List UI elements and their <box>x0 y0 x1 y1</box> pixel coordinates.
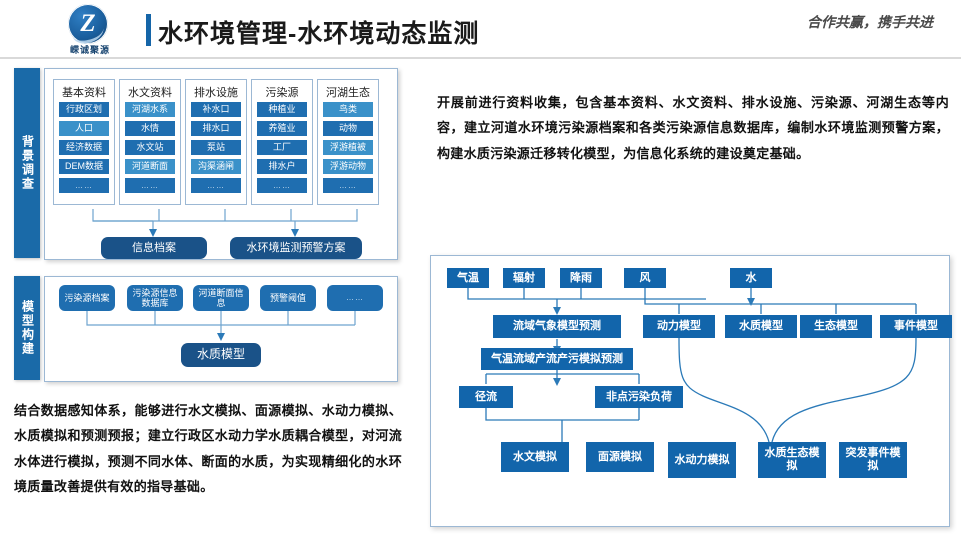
model-input-pollution-archive[interactable]: 污染源档案 <box>59 285 115 311</box>
flow-driver-wind[interactable]: 风 <box>624 268 666 288</box>
flow-runoff-pollution-model[interactable]: 气温流域产流产污模拟预测 <box>481 348 633 370</box>
data-chip[interactable]: 排水口 <box>191 121 241 136</box>
header-divider <box>0 57 961 59</box>
sidebar-item-label: 背景调查 <box>20 135 35 191</box>
flow-output-nonpoint-load[interactable]: 非点污染负荷 <box>595 386 683 408</box>
data-chip[interactable]: 人口 <box>59 121 109 136</box>
model-input-label: …… <box>346 293 364 302</box>
output-monitoring-warning-plan[interactable]: 水环境监测预警方案 <box>230 237 362 259</box>
data-chip[interactable]: 动物 <box>323 121 373 136</box>
model-output-label: 水质模型 <box>197 348 245 362</box>
flow-label: 气温 <box>457 272 479 285</box>
column-title: 污染源 <box>252 84 312 100</box>
data-chip[interactable]: 种植业 <box>257 102 307 117</box>
data-chip[interactable]: 河道断面 <box>125 159 175 174</box>
data-chip[interactable]: 水文站 <box>125 140 175 155</box>
flow-driver-rainfall[interactable]: 降雨 <box>560 268 602 288</box>
flow-sim-water-quality-ecology[interactable]: 水质生态模拟 <box>758 442 826 478</box>
flow-label: 辐射 <box>513 272 535 285</box>
flow-label: 面源模拟 <box>598 451 642 464</box>
flow-label: 径流 <box>475 391 497 404</box>
model-input-more[interactable]: …… <box>327 285 383 311</box>
data-column-pollution-source: 污染源 种植业 养殖业 工厂 排水户 …… <box>251 79 313 205</box>
logo-wordmark: 嵘诚聚源 <box>52 43 128 56</box>
page-title: 水环境管理-水环境动态监测 <box>158 14 479 50</box>
flow-model-dynamics[interactable]: 动力模型 <box>643 315 715 338</box>
flow-output-runoff[interactable]: 径流 <box>459 386 513 408</box>
flow-label: 突发事件模拟 <box>842 447 904 472</box>
column-title: 排水设施 <box>186 84 246 100</box>
data-chip[interactable]: 补水口 <box>191 102 241 117</box>
flow-model-ecology[interactable]: 生态模型 <box>800 315 872 338</box>
data-chip-more[interactable]: …… <box>257 178 307 193</box>
data-chip[interactable]: 行政区划 <box>59 102 109 117</box>
column-title: 河湖生态 <box>318 84 378 100</box>
data-chip-more[interactable]: …… <box>191 178 241 193</box>
output-label: 水环境监测预警方案 <box>247 242 346 255</box>
sidebar-item-label: 模型构建 <box>20 300 35 356</box>
data-chip[interactable]: 水情 <box>125 121 175 136</box>
data-chip[interactable]: 排水户 <box>257 159 307 174</box>
flow-label: 水动力模拟 <box>675 454 730 467</box>
background-investigation-panel: 基本资料 行政区划 人口 经济数据 DEM数据 …… 水文资料 河湖水系 水情 … <box>44 68 398 260</box>
model-flow-diagram: 气温 辐射 降雨 风 水 流域气象模型预测 动力模型 水质模型 生态模型 事件模… <box>430 255 950 527</box>
model-input-label: 污染源档案 <box>64 293 109 303</box>
flow-label: 流域气象模型预测 <box>513 320 601 333</box>
data-chip[interactable]: 工厂 <box>257 140 307 155</box>
flow-label: 风 <box>640 272 651 285</box>
output-information-archive[interactable]: 信息档案 <box>101 237 207 259</box>
flow-label: 生态模型 <box>814 320 858 333</box>
data-chip[interactable]: 养殖业 <box>257 121 307 136</box>
data-chip[interactable]: 浮游动物 <box>323 159 373 174</box>
flow-sim-hydrodynamics[interactable]: 水动力模拟 <box>668 442 736 478</box>
flow-model-event[interactable]: 事件模型 <box>880 315 952 338</box>
data-column-hydrology: 水文资料 河湖水系 水情 水文站 河道断面 …… <box>119 79 181 205</box>
flow-driver-water[interactable]: 水 <box>730 268 772 288</box>
data-chip[interactable]: 浮游植被 <box>323 140 373 155</box>
flow-basin-weather-model[interactable]: 流域气象模型预测 <box>493 315 621 338</box>
data-chip-more[interactable]: …… <box>125 178 175 193</box>
column-title: 水文资料 <box>120 84 180 100</box>
flow-sim-nonpoint-source[interactable]: 面源模拟 <box>586 442 654 472</box>
data-column-basic: 基本资料 行政区划 人口 经济数据 DEM数据 …… <box>53 79 115 205</box>
slide-header: Z 嵘诚聚源 水环境管理-水环境动态监测 合作共赢，携手共进 <box>0 0 961 58</box>
data-chip-more[interactable]: …… <box>323 178 373 193</box>
data-chip[interactable]: 经济数据 <box>59 140 109 155</box>
logo-disc-icon: Z <box>68 4 108 44</box>
description-bottom: 结合数据感知体系，能够进行水文模拟、面源模拟、水动力模拟、水质模拟和预测预报；建… <box>14 398 402 499</box>
flow-label: 气温流域产流产污模拟预测 <box>491 353 623 366</box>
model-input-label: 河道断面信息 <box>195 288 247 309</box>
model-input-label: 预警阈值 <box>270 293 306 303</box>
model-input-label: 污染源信息数据库 <box>129 288 181 309</box>
flow-label: 水质生态模拟 <box>761 447 823 472</box>
company-logo: Z 嵘诚聚源 <box>52 4 136 54</box>
data-chip[interactable]: DEM数据 <box>59 159 109 174</box>
flow-label: 降雨 <box>570 272 592 285</box>
header-slogan: 合作共赢，携手共进 <box>807 12 933 32</box>
flow-label: 非点污染负荷 <box>606 391 672 404</box>
data-column-river-lake-ecology: 河湖生态 鸟类 动物 浮游植被 浮游动物 …… <box>317 79 379 205</box>
flow-label: 水文模拟 <box>513 451 557 464</box>
data-column-drainage: 排水设施 补水口 排水口 泵站 沟渠涵闸 …… <box>185 79 247 205</box>
flow-driver-radiation[interactable]: 辐射 <box>503 268 545 288</box>
model-input-warning-threshold[interactable]: 预警阈值 <box>260 285 316 311</box>
data-chip[interactable]: 河湖水系 <box>125 102 175 117</box>
flow-label: 事件模型 <box>894 320 938 333</box>
logo-monogram: Z <box>68 4 108 44</box>
flow-sim-hydrology[interactable]: 水文模拟 <box>501 442 569 472</box>
model-construction-panel: 污染源档案 污染源信息数据库 河道断面信息 预警阈值 …… 水质模型 <box>44 276 398 382</box>
flow-label: 动力模型 <box>657 320 701 333</box>
model-output-water-quality[interactable]: 水质模型 <box>181 343 261 367</box>
model-input-section-info[interactable]: 河道断面信息 <box>193 285 249 311</box>
title-accent-bar <box>146 14 151 46</box>
sidebar-item-background-investigation[interactable]: 背景调查 <box>14 68 40 258</box>
data-chip[interactable]: 泵站 <box>191 140 241 155</box>
data-chip-more[interactable]: …… <box>59 178 109 193</box>
data-chip[interactable]: 沟渠涵闸 <box>191 159 241 174</box>
flow-sim-emergency-event[interactable]: 突发事件模拟 <box>839 442 907 478</box>
column-title: 基本资料 <box>54 84 114 100</box>
flow-model-water-quality[interactable]: 水质模型 <box>725 315 797 338</box>
flow-label: 水 <box>746 272 757 285</box>
sidebar-item-model-construction[interactable]: 模型构建 <box>14 276 40 380</box>
description-top: 开展前进行资料收集，包含基本资料、水文资料、排水设施、污染源、河湖生态等内容，建… <box>437 90 949 166</box>
flow-label: 水质模型 <box>739 320 783 333</box>
model-input-pollution-database[interactable]: 污染源信息数据库 <box>127 285 183 311</box>
output-label: 信息档案 <box>132 242 176 255</box>
data-chip[interactable]: 鸟类 <box>323 102 373 117</box>
flow-driver-temperature[interactable]: 气温 <box>447 268 489 288</box>
